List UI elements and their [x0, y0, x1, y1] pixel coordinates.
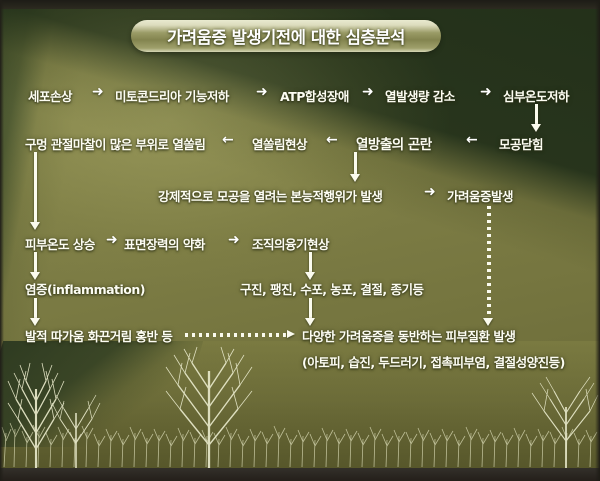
arrow-right-icon: ➜ — [256, 85, 268, 99]
flow-node-atp: ATP합성장애 — [280, 86, 349, 105]
infographic-canvas: 가려움증 발생기전에 대한 심층분석 세포손상 ➜ 미토콘드리아 기능저하 ➜ … — [0, 0, 600, 481]
arrow-down-icon-lesions-to-disease — [305, 298, 316, 326]
flow-node-tissue-elevation: 조직의융기현상 — [252, 234, 329, 253]
flow-node-heat-concentration: 열쏠림현상 — [252, 134, 307, 153]
flow-node-itch-occurs: 가려움증발생 — [447, 186, 513, 205]
arrow-right-icon: ➜ — [362, 85, 374, 99]
flow-node-inflammation: 염증(inflammation) — [25, 279, 145, 298]
arrow-right-icon: ➜ — [106, 233, 118, 247]
flow-node-erythema-burning: 발적 따가움 화끈거림 홍반 등 — [25, 326, 172, 345]
arrow-left-icon: ← — [222, 133, 234, 147]
arrow-down-dotted-icon-itch-to-disease — [483, 206, 494, 328]
arrow-left-icon: ← — [466, 133, 478, 147]
flow-node-heat-reduction: 열발생량 감소 — [385, 86, 455, 105]
flow-node-pore-closing: 모공닫힘 — [499, 134, 543, 153]
flow-node-mitochondria: 미토콘드리아 기능저하 — [115, 86, 229, 105]
flow-node-surface-tension-weak: 표면장력의 약화 — [124, 234, 205, 253]
frame-bottom — [0, 468, 600, 481]
arrow-right-icon: ➜ — [228, 233, 240, 247]
flow-node-skin-disease: 다양한 가려움증을 동반하는 피부질환 발생 — [302, 326, 515, 345]
arrow-right-icon: ➜ — [424, 185, 436, 199]
flow-node-heat-release-difficulty: 열방출의 곤란 — [356, 133, 432, 153]
flow-node-cell-damage: 세포손상 — [28, 86, 72, 105]
page-title: 가려움증 발생기전에 대한 심층분석 — [131, 20, 441, 52]
flow-node-instinctive-scratching: 강제적으로 모공을 열려는 본능적행위가 발생 — [158, 186, 382, 205]
flow-node-skin-temp-rise: 피부온도 상승 — [25, 234, 95, 253]
arrow-right-dotted-icon-erythema-to-disease — [185, 330, 295, 339]
arrow-down-icon-tissue-to-lesions — [305, 252, 316, 280]
page-title-text: 가려움증 발생기전에 대한 심층분석 — [167, 24, 405, 48]
flow-node-lesion-types: 구진, 팽진, 수포, 농포, 결절, 종기등 — [240, 279, 424, 298]
frame-left — [0, 0, 4, 481]
flow-node-heat-to-friction-area: 구멍 관절마찰이 많은 부위로 열쏠림 — [25, 134, 205, 153]
frame-right — [595, 0, 600, 481]
arrow-right-icon: ➜ — [480, 85, 492, 99]
flow-node-core-temp-drop: 심부온도저하 — [503, 86, 569, 105]
arrow-down-icon-friction-to-skin-temp — [30, 152, 41, 230]
arrow-down-icon-heat-to-behavior — [350, 152, 361, 182]
arrow-down-icon-inflammation-to-erythema — [30, 298, 41, 326]
arrow-down-icon-skin-temp-to-inflammation — [30, 252, 41, 280]
arrow-down-icon-core-to-pore — [531, 104, 542, 132]
flow-node-skin-disease-examples: (아토피, 습진, 두드러기, 접촉피부염, 결절성양진등) — [302, 352, 565, 371]
frame-top — [0, 0, 600, 9]
arrow-right-icon: ➜ — [92, 85, 104, 99]
arrow-left-icon: ← — [326, 133, 338, 147]
